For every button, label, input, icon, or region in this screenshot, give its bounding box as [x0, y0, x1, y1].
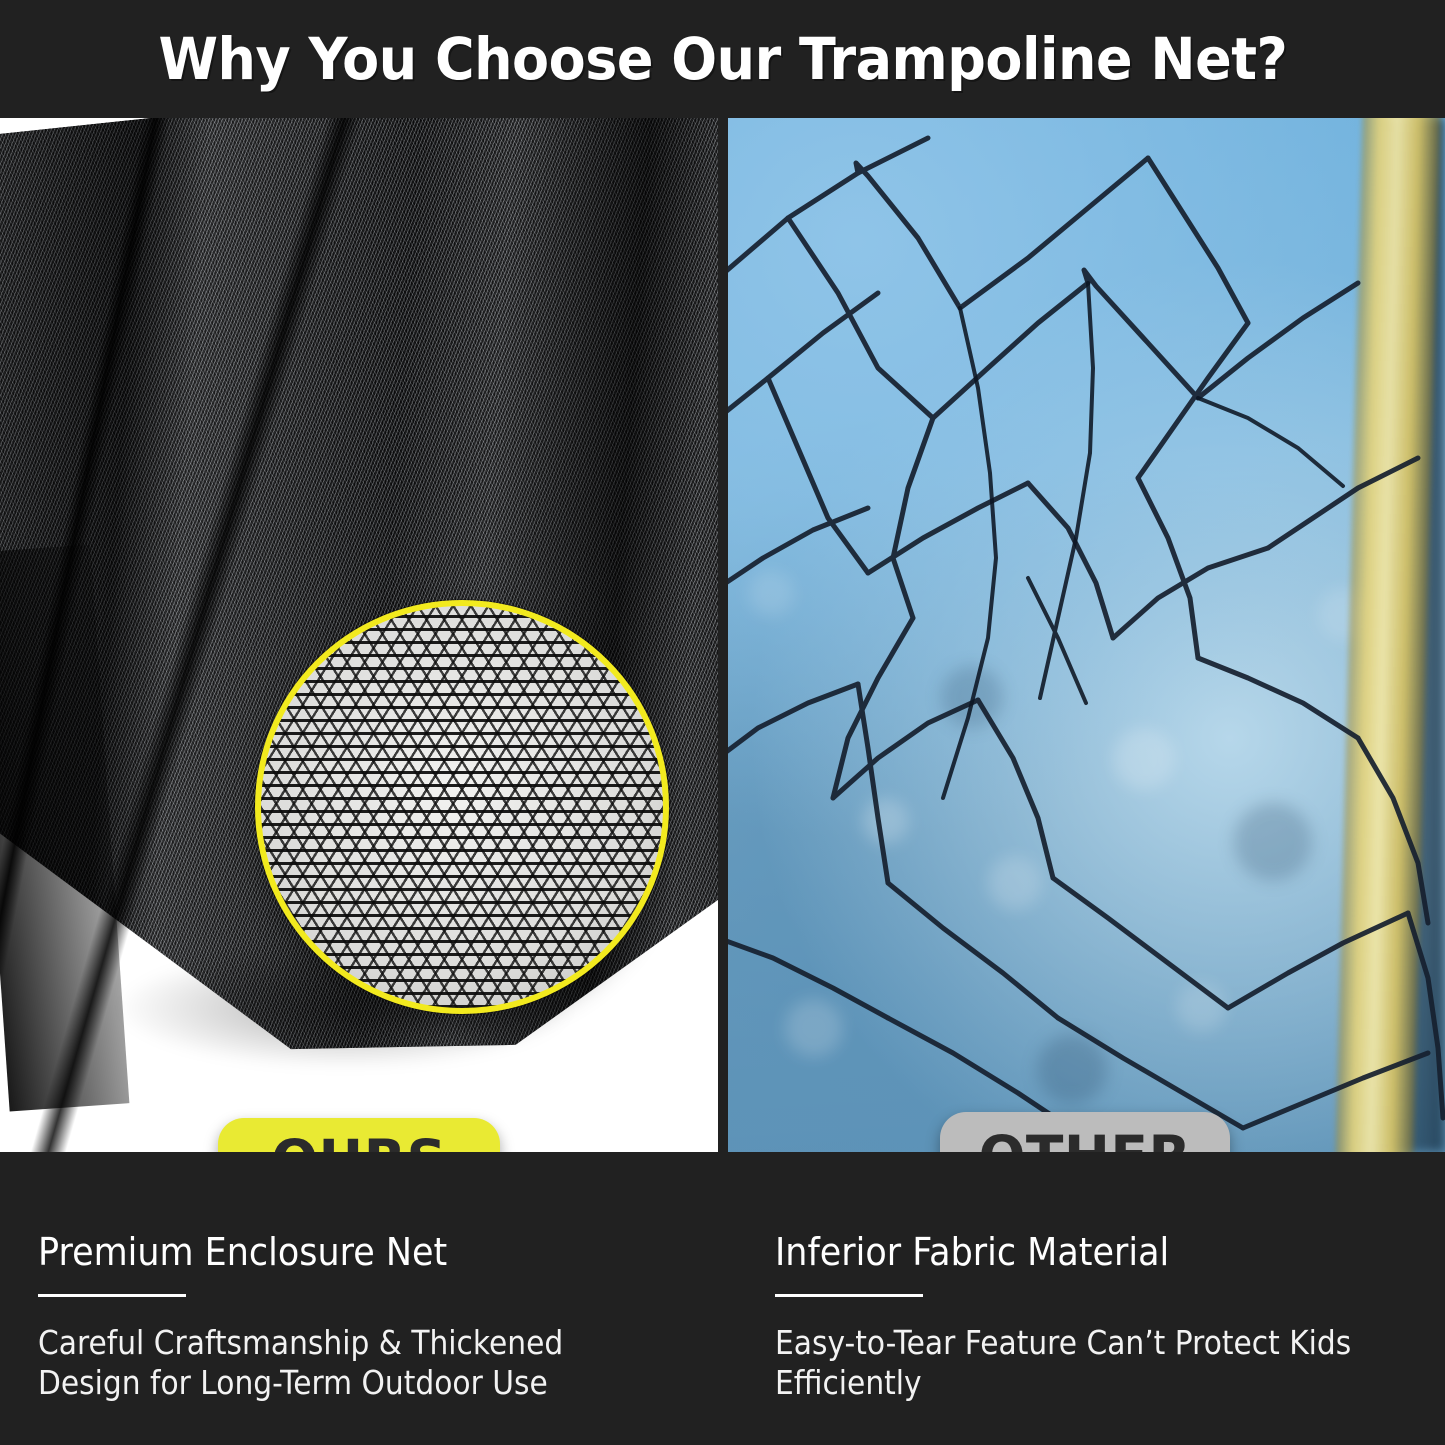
other-product-photo: [728, 118, 1445, 1152]
image-comparison-band: [0, 118, 1445, 1152]
other-description: Easy-to-Tear Feature Can’t Protect Kids …: [775, 1297, 1369, 1404]
page-title: Why You Choose Our Trampoline Net?: [158, 25, 1287, 93]
other-text-column: Inferior Fabric Material Easy-to-Tear Fe…: [775, 1152, 1435, 1404]
header-bar: Why You Choose Our Trampoline Net?: [0, 0, 1445, 118]
ours-heading: Premium Enclosure Net: [38, 1152, 645, 1274]
footer-text-area: Premium Enclosure Net Careful Craftsmans…: [0, 1152, 1445, 1445]
ours-text-column: Premium Enclosure Net Careful Craftsmans…: [38, 1152, 698, 1404]
panel-divider: [718, 118, 728, 1152]
ours-product-photo: [0, 118, 718, 1152]
magnifier-circle-icon: [255, 600, 669, 1014]
torn-net-strands: [728, 118, 1445, 1152]
comparison-infographic: Why You Choose Our Trampoline Net?: [0, 0, 1445, 1445]
other-heading: Inferior Fabric Material: [775, 1152, 1382, 1274]
ours-description: Careful Craftsmanship & Thickened Design…: [38, 1297, 632, 1404]
